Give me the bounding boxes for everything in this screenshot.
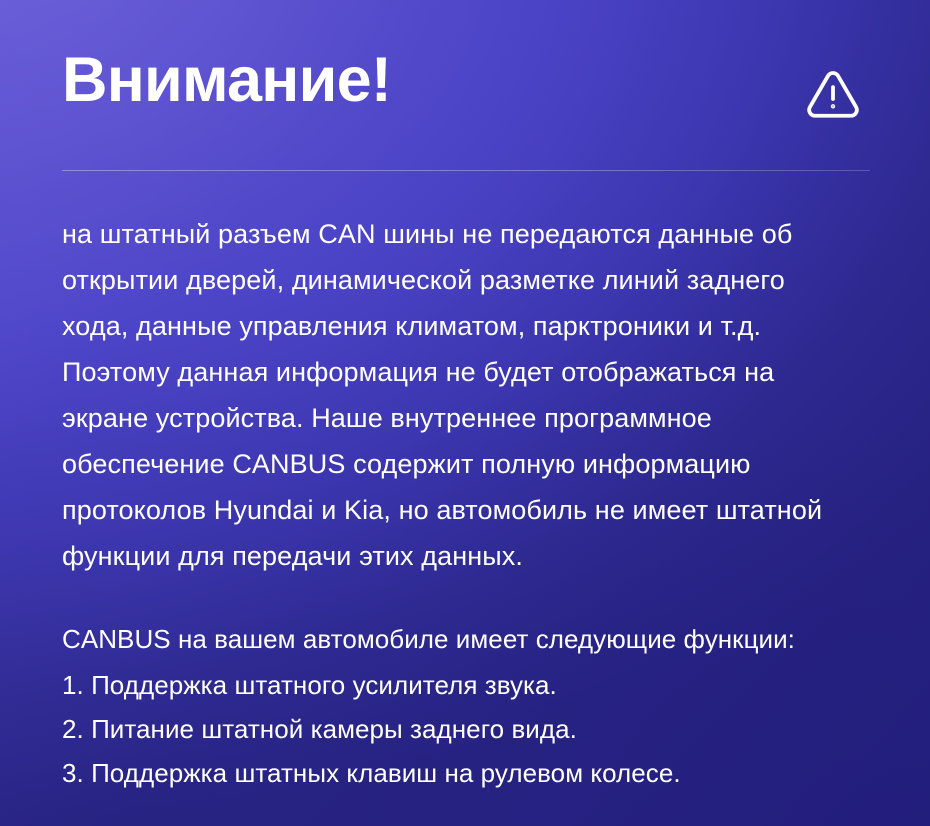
paragraph-line: обеспечение CANBUS содержит полную инфор… [62, 441, 868, 487]
paragraph-line: Поэтому данная информация не будет отобр… [62, 349, 868, 395]
functions-section: CANBUS на вашем автомобиле имеет следующ… [62, 617, 868, 795]
paragraph-line: протоколов Hyundai и Kia, но автомобиль … [62, 487, 868, 533]
paragraph-line: функции для передачи этих данных. [62, 533, 868, 579]
list-item: 3. Поддержка штатных клавиш на рулевом к… [62, 751, 868, 795]
list-item: 1. Поддержка штатного усилителя звука. [62, 663, 868, 707]
warning-triangle-icon [804, 65, 862, 123]
notice-content: на штатный разъем CAN шины не передаются… [62, 170, 868, 795]
paragraph-line: открытии дверей, динамической разметке л… [62, 257, 868, 303]
functions-heading: CANBUS на вашем автомобиле имеет следующ… [62, 617, 868, 661]
warning-notice-page: Внимание! на штатный разъем CAN шины не … [0, 0, 930, 826]
paragraph-line: экране устройства. Наше внутреннее прогр… [62, 395, 868, 441]
list-item: 2. Питание штатной камеры заднего вида. [62, 707, 868, 751]
notice-paragraph: на штатный разъем CAN шины не передаются… [62, 211, 868, 579]
page-title: Внимание! [62, 49, 391, 112]
paragraph-line: хода, данные управления климатом, парктр… [62, 303, 868, 349]
notice-header: Внимание! [62, 0, 868, 170]
paragraph-line: на штатный разъем CAN шины не передаются… [62, 211, 868, 257]
functions-list: 1. Поддержка штатного усилителя звука. 2… [62, 663, 868, 795]
